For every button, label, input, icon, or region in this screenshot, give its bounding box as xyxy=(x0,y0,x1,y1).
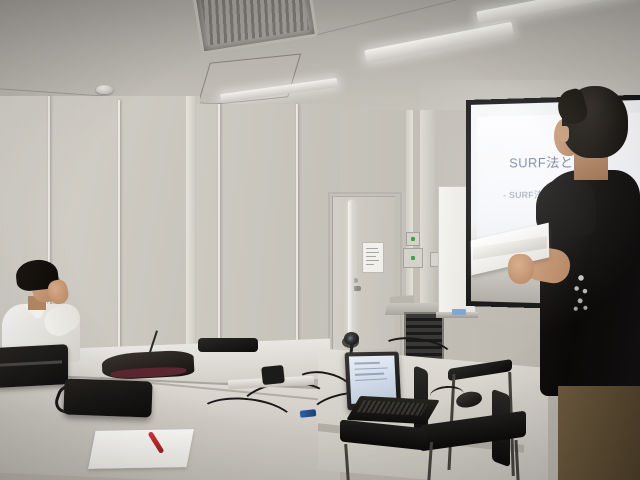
wall-light-tube xyxy=(348,200,354,336)
presenter-trousers xyxy=(558,386,640,480)
wall-pillar xyxy=(406,110,413,320)
wall-seam xyxy=(118,100,120,366)
posted-notice xyxy=(362,242,384,273)
door-frame xyxy=(328,192,402,360)
laptop-keyboard[interactable] xyxy=(357,400,428,415)
presenter-shirt-graphic xyxy=(570,270,592,314)
laptop-bag[interactable] xyxy=(63,378,152,417)
whiteboard-eraser[interactable] xyxy=(452,309,466,315)
status-led xyxy=(411,256,415,260)
smoke-detector-icon xyxy=(96,85,113,94)
presenter xyxy=(540,86,640,480)
wall-control-panel[interactable] xyxy=(406,232,420,246)
wall-pillar xyxy=(420,110,435,320)
plug-block xyxy=(261,365,285,385)
chair-back xyxy=(198,338,258,352)
wall-seam xyxy=(296,104,298,366)
laptop-bag[interactable] xyxy=(0,344,68,388)
laptop-base[interactable] xyxy=(346,396,439,424)
presenter-hand xyxy=(508,254,534,284)
wall-seam xyxy=(218,104,220,366)
wall-control-panel[interactable] xyxy=(403,248,423,268)
wall-column xyxy=(186,96,195,368)
status-led xyxy=(411,237,415,241)
webcam-icon[interactable] xyxy=(344,332,359,345)
paper-sheet[interactable] xyxy=(88,429,194,469)
wall-middle xyxy=(196,104,344,366)
presenter-ear xyxy=(558,126,569,142)
photo-scene: SURF法と - SURF法(Speed-U xyxy=(0,0,640,480)
